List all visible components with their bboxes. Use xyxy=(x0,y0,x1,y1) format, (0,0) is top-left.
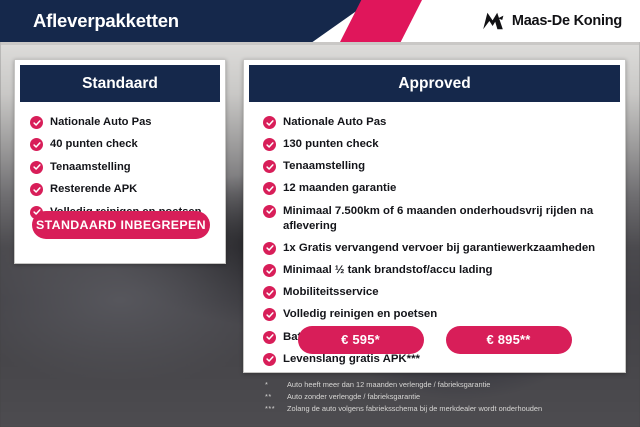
check-circle-icon xyxy=(263,308,276,321)
list-item: Mobiliteitsservice xyxy=(263,285,611,300)
check-circle-icon xyxy=(30,161,43,174)
feature-label: Mobiliteitsservice xyxy=(283,285,379,300)
footnotes: * Auto heeft meer dan 12 maanden verleng… xyxy=(265,379,635,415)
footnote-item: * Auto heeft meer dan 12 maanden verleng… xyxy=(265,379,635,391)
list-item: Tenaamstelling xyxy=(263,159,611,174)
feature-label: Tenaamstelling xyxy=(283,159,365,174)
check-circle-icon xyxy=(263,138,276,151)
feature-label: Resterende APK xyxy=(50,182,137,197)
check-circle-icon xyxy=(263,160,276,173)
footnote-text: Auto zonder verlengde / fabrieksgarantie xyxy=(287,391,420,403)
feature-label: 40 punten check xyxy=(50,137,138,152)
brand-lockup: Maas-De Koning xyxy=(482,0,622,42)
check-circle-icon xyxy=(263,205,276,218)
maas-de-koning-m-logo-icon xyxy=(482,12,504,30)
footnote-item: ** Auto zonder verlengde / fabrieksgaran… xyxy=(265,391,635,403)
check-circle-icon xyxy=(263,242,276,255)
feature-label: 130 punten check xyxy=(283,137,379,152)
price-button-595[interactable]: € 595* xyxy=(298,326,424,354)
brand-name: Maas-De Koning xyxy=(512,13,622,29)
feature-label: Volledig reinigen en poetsen xyxy=(283,307,437,322)
feature-label: Tenaamstelling xyxy=(50,160,131,175)
price-button-row: € 595* € 895** xyxy=(244,326,625,354)
price-button-895[interactable]: € 895** xyxy=(446,326,572,354)
feature-label: Minimaal 7.500km of 6 maanden onderhouds… xyxy=(283,204,611,234)
feature-label: 1x Gratis vervangend vervoer bij garanti… xyxy=(283,241,595,256)
feature-label: Nationale Auto Pas xyxy=(283,115,386,130)
check-circle-icon xyxy=(30,183,43,196)
list-item: Minimaal ½ tank brandstof/accu lading xyxy=(263,263,611,278)
card-title-standaard: Standaard xyxy=(20,65,220,102)
footnote-text: Zolang de auto volgens fabrieksschema bi… xyxy=(287,403,542,415)
footnote-marker: ** xyxy=(265,391,287,403)
check-circle-icon xyxy=(30,116,43,129)
standaard-inbegrepen-button[interactable]: STANDAARD INBEGREPEN xyxy=(32,211,210,239)
footnote-item: *** Zolang de auto volgens fabrieksschem… xyxy=(265,403,635,415)
card-title-approved: Approved xyxy=(249,65,620,102)
check-circle-icon xyxy=(263,182,276,195)
header-divider xyxy=(0,42,640,45)
package-card-approved: Approved Nationale Auto Pas 130 punten c… xyxy=(243,59,626,373)
feature-label: Nationale Auto Pas xyxy=(50,115,152,130)
check-circle-icon xyxy=(263,286,276,299)
page-root: Afleverpakketten Maas-De Koning Standaar… xyxy=(0,0,640,427)
list-item: Volledig reinigen en poetsen xyxy=(263,307,611,322)
list-item: 12 maanden garantie xyxy=(263,181,611,196)
list-item: 1x Gratis vervangend vervoer bij garanti… xyxy=(263,241,611,256)
list-item: 130 punten check xyxy=(263,137,611,152)
footnote-text: Auto heeft meer dan 12 maanden verlengde… xyxy=(287,379,490,391)
list-item: Resterende APK xyxy=(30,182,215,197)
check-circle-icon xyxy=(263,264,276,277)
page-title: Afleverpakketten xyxy=(33,0,179,42)
footnote-marker: * xyxy=(265,379,287,391)
check-circle-icon xyxy=(30,138,43,151)
feature-list-standaard: Nationale Auto Pas 40 punten check Tenaa… xyxy=(15,102,225,219)
list-item: Nationale Auto Pas xyxy=(263,115,611,130)
list-item: Tenaamstelling xyxy=(30,160,215,175)
list-item: Nationale Auto Pas xyxy=(30,115,215,130)
footnote-marker: *** xyxy=(265,403,287,415)
check-circle-icon xyxy=(263,116,276,129)
list-item: Minimaal 7.500km of 6 maanden onderhouds… xyxy=(263,204,611,234)
package-card-standaard: Standaard Nationale Auto Pas 40 punten c… xyxy=(14,59,226,264)
list-item: 40 punten check xyxy=(30,137,215,152)
feature-label: Minimaal ½ tank brandstof/accu lading xyxy=(283,263,493,278)
header-bar: Afleverpakketten Maas-De Koning xyxy=(0,0,640,42)
check-circle-icon xyxy=(263,353,276,366)
feature-label: 12 maanden garantie xyxy=(283,181,396,196)
